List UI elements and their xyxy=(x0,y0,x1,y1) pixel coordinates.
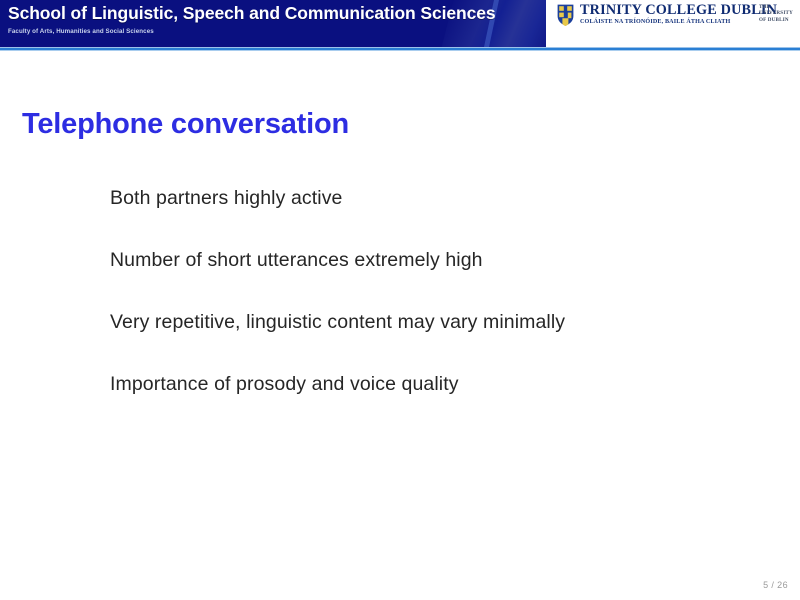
list-item: Very repetitive, linguistic content may … xyxy=(110,310,770,334)
list-item: Number of short utterances extremely hig… xyxy=(110,248,770,272)
header-divider-rule xyxy=(0,47,800,52)
university-line-2: UNIVERSITY xyxy=(759,10,793,16)
page-title: Telephone conversation xyxy=(22,108,349,141)
faculty-title: Faculty of Arts, Humanities and Social S… xyxy=(8,28,154,35)
school-title: School of Linguistic, Speech and Communi… xyxy=(8,3,496,24)
trinity-college-names: TRINITY COLLEGE DUBLIN COLÁISTE NA TRÍON… xyxy=(580,3,756,27)
bullet-list: Both partners highly active Number of sh… xyxy=(110,186,770,396)
university-line-3: OF DUBLIN xyxy=(759,17,793,23)
trinity-college-crest-icon xyxy=(556,3,575,27)
university-of-dublin-label: THE UNIVERSITY OF DUBLIN xyxy=(759,4,793,23)
header-blue-band: School of Linguistic, Speech and Communi… xyxy=(0,0,546,47)
trinity-college-logo: TRINITY COLLEGE DUBLIN COLÁISTE NA TRÍON… xyxy=(556,3,796,31)
list-item: Both partners highly active xyxy=(110,186,770,210)
presentation-slide: School of Linguistic, Speech and Communi… xyxy=(0,0,800,600)
page-number: 5 / 26 xyxy=(763,580,788,590)
trinity-name-english: TRINITY COLLEGE DUBLIN xyxy=(580,3,756,18)
divider-fade xyxy=(0,50,800,51)
trinity-name-irish: COLÁISTE NA TRÍONÓIDE, BAILE ÁTHA CLIATH xyxy=(580,18,756,27)
slide-header: School of Linguistic, Speech and Communi… xyxy=(0,0,800,48)
list-item: Importance of prosody and voice quality xyxy=(110,372,770,396)
